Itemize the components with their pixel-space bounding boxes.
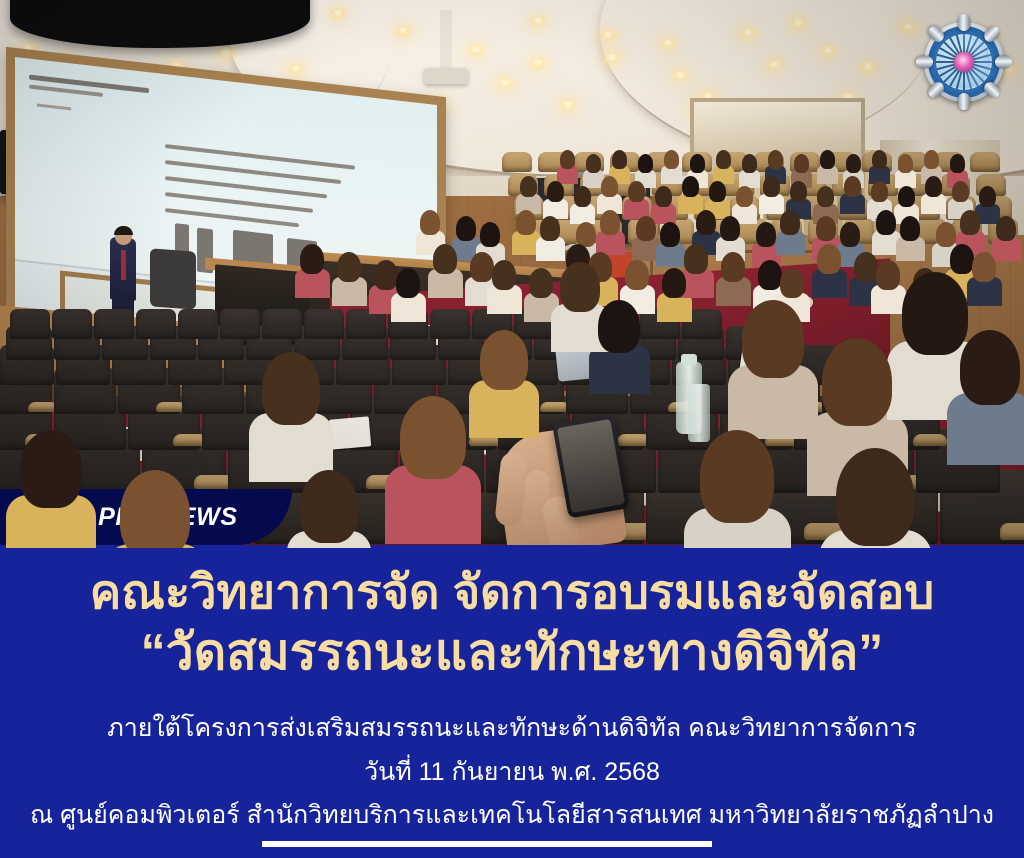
ceiling-downlight <box>740 28 756 39</box>
ceiling-downlight <box>600 30 616 41</box>
ceiling-downlight <box>330 8 346 19</box>
ships-wheel-hub <box>954 52 974 72</box>
audience-member <box>817 244 841 274</box>
audience-member <box>721 252 745 282</box>
ceiling-downlight <box>218 47 234 58</box>
audience-member <box>628 181 645 202</box>
audience-member <box>300 244 324 274</box>
audience-member <box>736 186 753 207</box>
audience-member <box>816 216 836 241</box>
subtitle-line-1: ภายใต้โครงการส่งเสริมสมรรถนะและทักษะด้าน… <box>0 708 1024 748</box>
audience-member <box>400 396 466 479</box>
auditorium-seat <box>178 309 218 339</box>
audience-member <box>456 216 476 241</box>
event-photo <box>0 0 1024 548</box>
news-poster: MS LPRU NEWS คณะวิทยาการจัด จัดการอบรมแล… <box>0 0 1024 858</box>
audience-member <box>822 338 892 426</box>
audience-member <box>662 268 686 298</box>
audience-member <box>682 176 699 197</box>
audience-member <box>690 154 705 173</box>
audience-member <box>625 260 649 290</box>
ceiling-downlight <box>288 64 304 75</box>
audience-member <box>516 210 536 235</box>
seat-tablet-arm <box>913 434 948 446</box>
headline-line-2: “วัดสมรรถนะและทักษะทางดิจิทัล” <box>0 625 1024 679</box>
water-bottle-cap <box>681 354 697 365</box>
ceiling-downlight <box>660 38 676 49</box>
audience-member <box>337 252 361 282</box>
audience-member <box>996 216 1016 241</box>
ceiling-downlight <box>860 62 876 73</box>
ceiling-downlight <box>560 100 576 111</box>
audience-member <box>817 186 834 207</box>
auditorium-seat <box>304 309 344 339</box>
audience-member <box>950 244 974 274</box>
ceiling-downlight <box>604 53 620 64</box>
auditorium-seat <box>430 309 470 339</box>
ceiling-downlight <box>766 60 782 71</box>
audience-member <box>470 252 494 282</box>
audience-member <box>709 181 726 202</box>
audience-member <box>854 252 878 282</box>
audience-member <box>756 222 776 247</box>
audience-member <box>846 154 861 173</box>
audience-member <box>684 244 708 274</box>
audience-member <box>638 154 653 173</box>
water-bottle <box>688 384 710 442</box>
audience-member <box>574 186 591 207</box>
audience-member <box>696 210 716 235</box>
audience-member <box>612 150 627 169</box>
audience-member <box>768 150 783 169</box>
ceiling-downlight <box>395 26 411 37</box>
seat-tablet-arm <box>1000 523 1024 539</box>
audience-member <box>396 268 420 298</box>
ceiling-downlight <box>820 46 836 57</box>
ceiling-downlight <box>530 58 546 69</box>
subtitle-line-2: วันที่ 11 กันยายน พ.ศ. 2568 <box>0 752 1024 792</box>
smartphone-screen <box>557 419 625 513</box>
audience-member <box>492 260 516 290</box>
bottom-divider-rule <box>262 841 712 847</box>
ceiling-projector-mount <box>440 10 452 70</box>
audience-member <box>876 260 900 290</box>
audience-member <box>836 448 914 546</box>
auditorium-seat-far <box>502 152 532 172</box>
audience-member <box>374 260 398 290</box>
audience-member <box>433 244 457 274</box>
audience-member <box>925 176 942 197</box>
auditorium-seat <box>52 309 92 339</box>
auditorium-seat <box>10 309 50 339</box>
audience-member <box>794 154 809 173</box>
audience-member <box>700 430 774 523</box>
audience-member <box>780 210 800 235</box>
audience-member <box>898 186 915 207</box>
auditorium-seat <box>220 309 260 339</box>
audience-member <box>924 150 939 169</box>
stage-chair <box>150 248 196 309</box>
audience-member <box>936 222 956 247</box>
ceiling-downlight <box>900 22 916 33</box>
audience-member <box>655 186 672 207</box>
subtitle-line-3: ณ ศูนย์คอมพิวเตอร์ สำนักวิทยบริการและเทค… <box>0 795 1024 835</box>
audience-member <box>979 186 996 207</box>
slide-caption <box>37 103 71 110</box>
audience-member <box>844 176 861 197</box>
audience-member <box>902 272 968 355</box>
audience-member <box>529 268 553 298</box>
audience-member <box>780 268 804 298</box>
audience-member <box>300 470 358 543</box>
audience-member <box>716 150 731 169</box>
audience-member <box>872 150 887 169</box>
audience-paper <box>329 416 371 449</box>
audience-member <box>480 222 500 247</box>
audience-member <box>763 176 780 197</box>
audience-member <box>720 216 740 241</box>
audience-member <box>120 470 190 548</box>
faculty-logo <box>916 14 1012 110</box>
auditorium-seat <box>262 309 302 339</box>
audience-member <box>560 262 600 312</box>
audience-member <box>547 181 564 202</box>
audience-member <box>560 150 575 169</box>
ceiling-downlight <box>497 78 513 89</box>
ceiling-downlight <box>790 18 806 29</box>
audience-member <box>871 181 888 202</box>
audience-member <box>600 210 620 235</box>
audience-member <box>520 176 537 197</box>
headline-line-1: คณะวิทยาการจัด จัดการอบรมและจัดสอบ <box>0 567 1024 618</box>
audience-member <box>820 150 835 169</box>
auditorium-seat <box>136 309 176 339</box>
audience-member <box>790 181 807 202</box>
ceiling-downlight <box>468 45 484 56</box>
auditorium-seat-far <box>970 152 1000 172</box>
audience-member <box>950 154 965 173</box>
audience-member <box>480 330 528 390</box>
presenter-tie <box>121 250 126 280</box>
audience-member <box>540 216 560 241</box>
audience-member <box>586 154 601 173</box>
audience-member <box>601 176 618 197</box>
ceiling-downlight <box>530 16 546 27</box>
audience-member <box>960 330 1020 405</box>
audience-member <box>664 150 679 169</box>
audience-member <box>420 210 440 235</box>
audience-member <box>960 210 980 235</box>
ceiling-downlight <box>672 70 688 81</box>
audience-member <box>758 260 782 290</box>
caption-banner: คณะวิทยาการจัด จัดการอบรมและจัดสอบ “วัดส… <box>0 545 1024 858</box>
audience-member <box>900 216 920 241</box>
auditorium-seat <box>94 309 134 339</box>
audience-member <box>598 300 640 353</box>
audience-member <box>262 352 320 425</box>
audience-member <box>20 430 82 508</box>
ceiling-projector <box>424 68 468 84</box>
audience-member <box>972 252 996 282</box>
audience-member <box>636 216 656 241</box>
audience-member <box>898 154 913 173</box>
audience-member <box>742 300 804 378</box>
audience-member <box>840 222 860 247</box>
audience-member <box>952 181 969 202</box>
audience-member <box>742 154 757 173</box>
audience-member <box>876 210 896 235</box>
audience-member <box>660 222 680 247</box>
